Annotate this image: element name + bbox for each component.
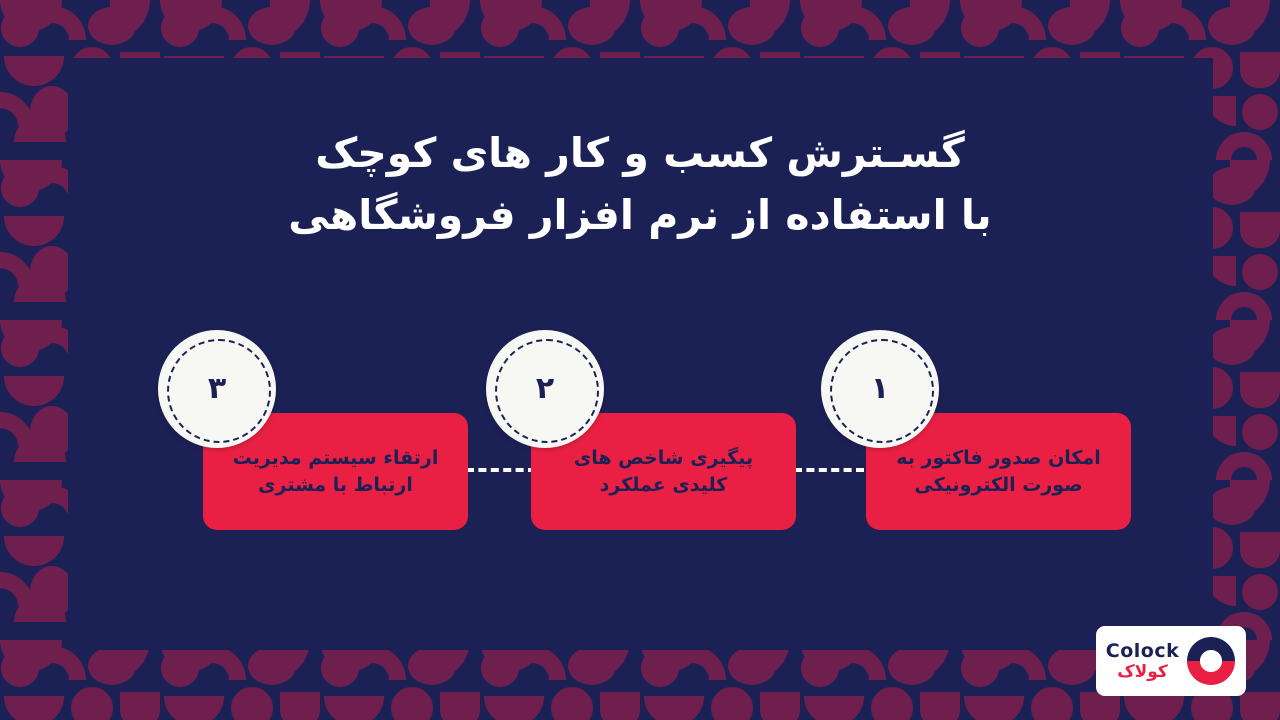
step-badge-3-number: ۳ — [208, 374, 226, 404]
step-card-2-text: پیگیری شاخص های کلیدی عملکرد — [531, 445, 796, 499]
slide-canvas: گسـترش کسب و کار های کوچک با استفاده از … — [0, 0, 1280, 720]
step-badge-2[interactable]: ۲ — [486, 330, 604, 448]
colock-donut-icon — [1186, 636, 1236, 686]
brand-logo[interactable]: Colock کولاک — [1096, 626, 1246, 696]
step-badge-3[interactable]: ۳ — [158, 330, 276, 448]
logo-latin-text: Colock — [1106, 642, 1179, 661]
logo-persian-text: کولاک — [1117, 664, 1168, 681]
step-badge-1[interactable]: ۱ — [821, 330, 939, 448]
step-badge-1-number: ۱ — [871, 374, 889, 404]
step-badge-2-number: ۲ — [536, 374, 554, 404]
step-card-3-text: ارتقاء سیستم مدیریت ارتباط با مشتری — [203, 445, 468, 499]
step-card-1-text: امکان صدور فاکتور به صورت الکترونیکی — [866, 445, 1131, 499]
steps-row: ارتقاء سیستم مدیریت ارتباط با مشتری ۳ پی… — [0, 0, 1280, 720]
connector-line-right — [794, 468, 864, 472]
connector-line-left — [466, 468, 536, 472]
logo-wordmark: Colock کولاک — [1106, 642, 1179, 681]
